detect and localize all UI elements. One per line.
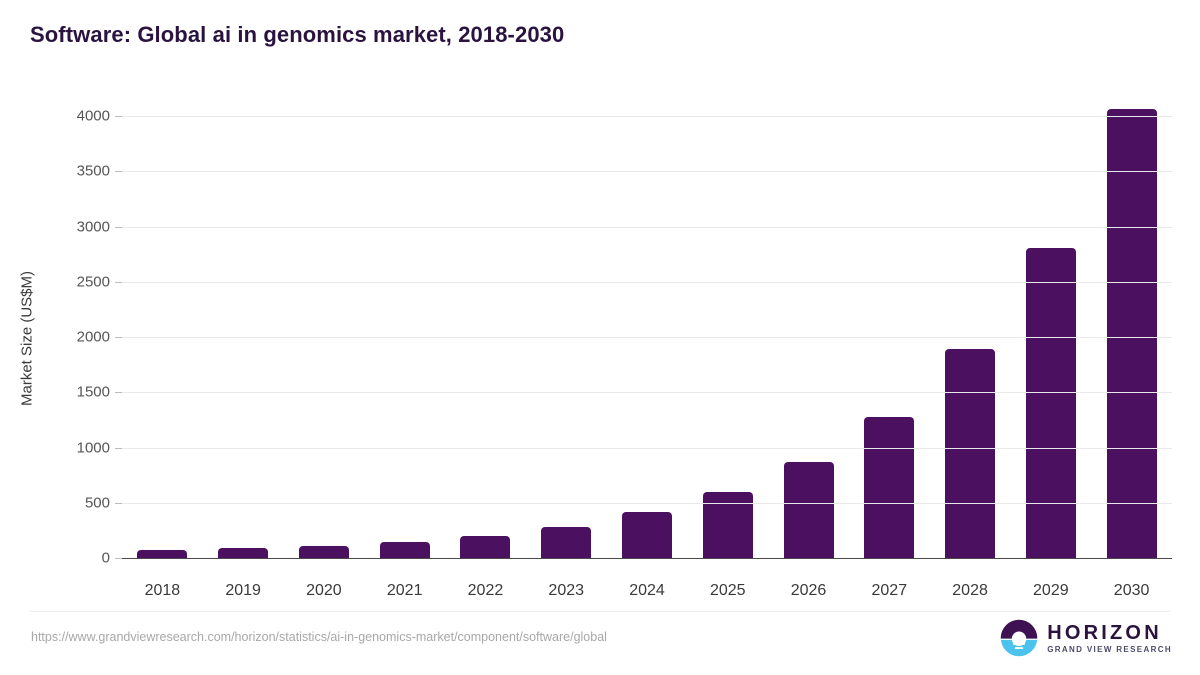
chart-canvas: Market Size (US$M) 050010001500200025003… xyxy=(0,0,1200,675)
gridline xyxy=(122,503,1172,504)
x-axis-tick: 2029 xyxy=(1010,558,1091,598)
x-axis-tick: 2019 xyxy=(203,558,284,598)
bar[interactable] xyxy=(137,550,187,558)
y-axis-tick-label: 0 xyxy=(0,550,110,567)
x-axis-tick-label: 2023 xyxy=(526,582,607,600)
horizon-sun-circle-icon xyxy=(1000,619,1038,657)
y-axis-tick-label: 4000 xyxy=(0,108,110,125)
x-axis-tick-label: 2027 xyxy=(849,582,930,600)
x-axis-tick: 2021 xyxy=(364,558,445,598)
y-axis-tick-label: 1500 xyxy=(0,384,110,401)
y-axis-tick-mark xyxy=(115,227,122,228)
x-axis-tick-label: 2028 xyxy=(930,582,1011,600)
bar[interactable] xyxy=(1107,109,1157,558)
x-axis-tick-label: 2022 xyxy=(445,582,526,600)
logo-text-block: HORIZON GRAND VIEW RESEARCH xyxy=(1047,623,1172,654)
gridline xyxy=(122,227,1172,228)
logo-wordmark: HORIZON xyxy=(1047,623,1172,643)
bar[interactable] xyxy=(380,542,430,558)
x-axis-tick-label: 2019 xyxy=(203,582,284,600)
chart-page: Software: Global ai in genomics market, … xyxy=(0,0,1200,675)
bar[interactable] xyxy=(218,548,268,558)
x-axis-tick: 2023 xyxy=(526,558,607,598)
x-axis-tick-label: 2030 xyxy=(1091,582,1172,600)
y-axis-tick-mark xyxy=(115,558,122,559)
footer-divider xyxy=(30,611,1170,612)
x-axis-tick-label: 2029 xyxy=(1010,582,1091,600)
x-axis-tick: 2020 xyxy=(284,558,365,598)
y-axis-tick-label: 3000 xyxy=(0,218,110,235)
bar[interactable] xyxy=(299,546,349,558)
x-axis-tick: 2026 xyxy=(768,558,849,598)
logo-tagline: GRAND VIEW RESEARCH xyxy=(1047,646,1172,654)
gridline xyxy=(122,337,1172,338)
x-axis-tick: 2018 xyxy=(122,558,203,598)
x-axis-tick-labels: 2018201920202021202220232024202520262027… xyxy=(122,558,1172,598)
bar[interactable] xyxy=(864,417,914,558)
bar[interactable] xyxy=(945,349,995,558)
x-axis-tick-label: 2018 xyxy=(122,582,203,600)
y-axis-tick-label: 500 xyxy=(0,494,110,511)
x-axis-tick-label: 2026 xyxy=(768,582,849,600)
y-axis-tick-label: 2000 xyxy=(0,329,110,346)
y-axis-tick-mark xyxy=(115,503,122,504)
bar[interactable] xyxy=(541,527,591,558)
gridline xyxy=(122,392,1172,393)
x-axis-tick-label: 2020 xyxy=(284,582,365,600)
plot-area: 05001000150020002500300035004000 xyxy=(122,116,1172,558)
x-axis-tick-label: 2024 xyxy=(607,582,688,600)
bar[interactable] xyxy=(1026,248,1076,559)
bar[interactable] xyxy=(784,462,834,558)
y-axis-tick-mark xyxy=(115,171,122,172)
source-url[interactable]: https://www.grandviewresearch.com/horizo… xyxy=(31,630,607,644)
x-axis-tick: 2024 xyxy=(607,558,688,598)
gridline xyxy=(122,282,1172,283)
gridline xyxy=(122,171,1172,172)
x-axis-tick-label: 2025 xyxy=(687,582,768,600)
bar[interactable] xyxy=(460,536,510,558)
x-axis-tick: 2025 xyxy=(687,558,768,598)
y-axis-tick-mark xyxy=(115,392,122,393)
gridline xyxy=(122,116,1172,117)
x-axis-tick: 2028 xyxy=(930,558,1011,598)
y-axis-tick-mark xyxy=(115,448,122,449)
x-axis-tick-label: 2021 xyxy=(364,582,445,600)
x-axis-tick: 2027 xyxy=(849,558,930,598)
x-axis-tick: 2022 xyxy=(445,558,526,598)
gridline xyxy=(122,448,1172,449)
y-axis-tick-label: 2500 xyxy=(0,273,110,290)
horizon-logo[interactable]: HORIZON GRAND VIEW RESEARCH xyxy=(1000,618,1172,658)
y-axis-tick-mark xyxy=(115,282,122,283)
y-axis-tick-mark xyxy=(115,116,122,117)
y-axis-tick-label: 3500 xyxy=(0,163,110,180)
bar[interactable] xyxy=(622,512,672,558)
y-axis-tick-mark xyxy=(115,337,122,338)
x-axis-tick: 2030 xyxy=(1091,558,1172,598)
y-axis-tick-label: 1000 xyxy=(0,439,110,456)
